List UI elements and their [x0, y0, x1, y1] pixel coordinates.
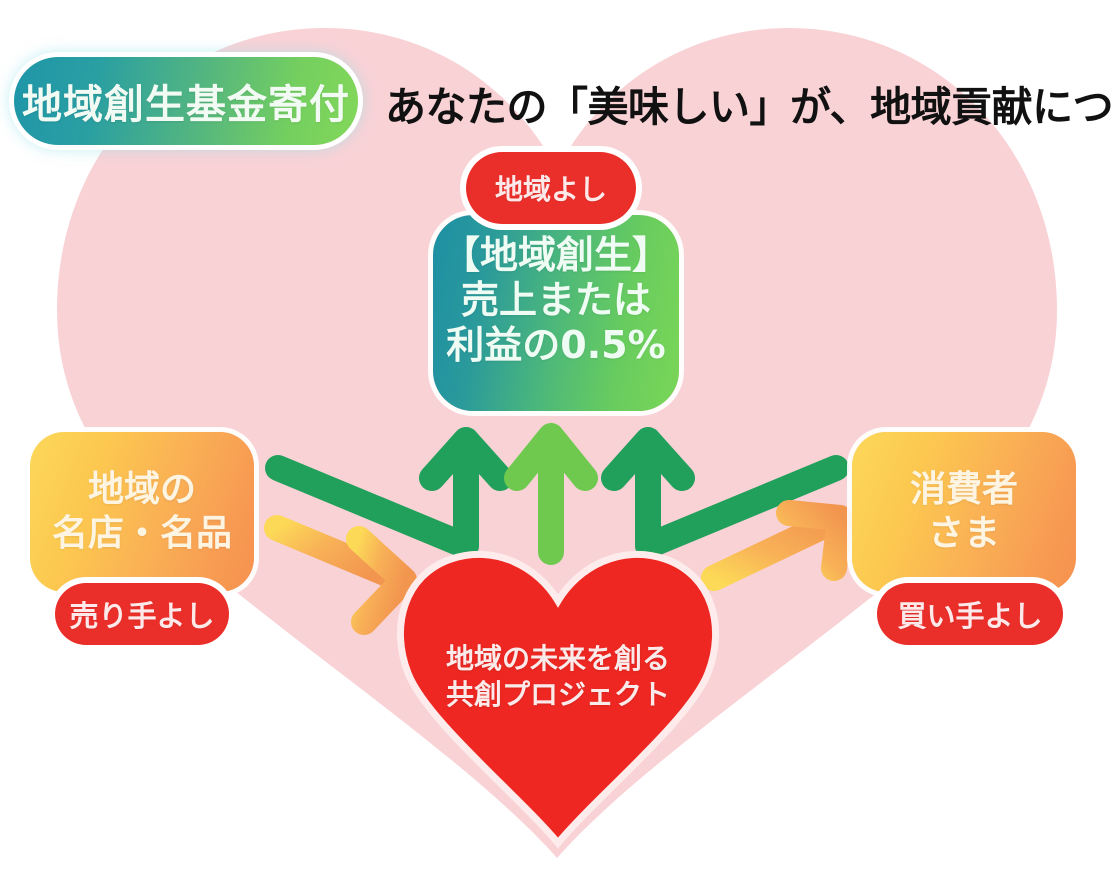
project-heart-shape [388, 545, 728, 855]
regional-creation-line1: 【地域創生】 [442, 233, 670, 278]
arrow-orange-right [714, 513, 840, 578]
badge-uriteyoshi: 売り手よし [55, 583, 229, 645]
badge-chiiki-yoshi-label: 地域よし [495, 168, 607, 208]
regional-creation-card: 【地域創生】 売上または 利益の0.5% [433, 215, 679, 411]
fund-donation-badge[interactable]: 地域創生基金寄付 [14, 57, 358, 145]
local-shops-line2: 名店・名品 [52, 512, 232, 556]
local-shops-card: 地域の 名店・名品 [30, 432, 254, 592]
project-heart: 地域の未来を創る共創プロジェクト [388, 545, 728, 855]
badge-chiiki-yoshi: 地域よし [466, 152, 636, 224]
badge-kaiteyoshi: 買い手よし [877, 583, 1063, 645]
badge-uriteyoshi-label: 売り手よし [69, 593, 214, 635]
arrow-green-left [278, 440, 500, 546]
consumer-card: 消費者 さま [852, 432, 1076, 592]
arrow-green-right [614, 440, 836, 546]
page-headline: あなたの「美味しい」が、地域貢献につながります [385, 72, 1110, 134]
arrow-green-center [517, 436, 585, 552]
badge-kaiteyoshi-label: 買い手よし [897, 593, 1042, 635]
consumer-line2: さま [928, 512, 1000, 556]
infographic-canvas: 地域創生基金寄付 あなたの「美味しい」が、地域貢献につながります 【地域創生】 … [0, 0, 1114, 878]
regional-creation-line2: 売上または [461, 278, 651, 323]
arrow-orange-left [277, 528, 404, 622]
consumer-line1: 消費者 [910, 468, 1018, 512]
regional-creation-line3: 利益の0.5% [446, 323, 665, 368]
local-shops-line1: 地域の [88, 468, 196, 512]
fund-donation-badge-label: 地域創生基金寄付 [22, 72, 350, 130]
